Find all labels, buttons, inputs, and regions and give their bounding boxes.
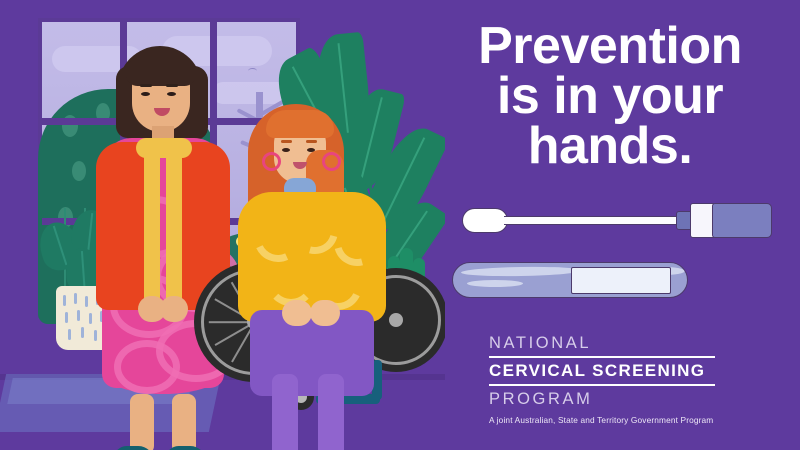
logo-line-national: NATIONAL: [489, 333, 715, 354]
illustration-scene: [0, 0, 445, 450]
headline-line-2: is in your: [430, 72, 790, 122]
self-collection-swab-graphic: [462, 202, 748, 238]
logo-tagline: A joint Australian, State and Territory …: [489, 415, 715, 425]
logo-divider: [489, 384, 715, 386]
logo-line-program: PROGRAM: [489, 389, 715, 410]
headline-line-1: Prevention: [430, 22, 790, 72]
campaign-banner: Prevention is in your hands. NATIONAL CE…: [0, 0, 800, 450]
purple-pants: [250, 310, 374, 396]
seated-woman-figure: [236, 104, 388, 450]
swab-stick: [504, 216, 682, 225]
headline: Prevention is in your hands.: [430, 22, 790, 172]
swab-tip: [462, 208, 508, 233]
tube-label: [571, 267, 671, 294]
tube-highlight: [467, 280, 523, 287]
hoop-earring: [262, 152, 281, 171]
swab-handle: [712, 203, 772, 238]
tube-highlight: [461, 266, 581, 277]
logo-divider: [489, 356, 715, 358]
logo-line-cervical-screening: CERVICAL SCREENING: [489, 361, 715, 381]
specimen-tube-graphic: [452, 262, 688, 298]
headline-line-3: hands.: [430, 122, 790, 172]
hoop-earring: [322, 152, 341, 171]
program-logo: NATIONAL CERVICAL SCREENING PROGRAM A jo…: [489, 333, 715, 425]
